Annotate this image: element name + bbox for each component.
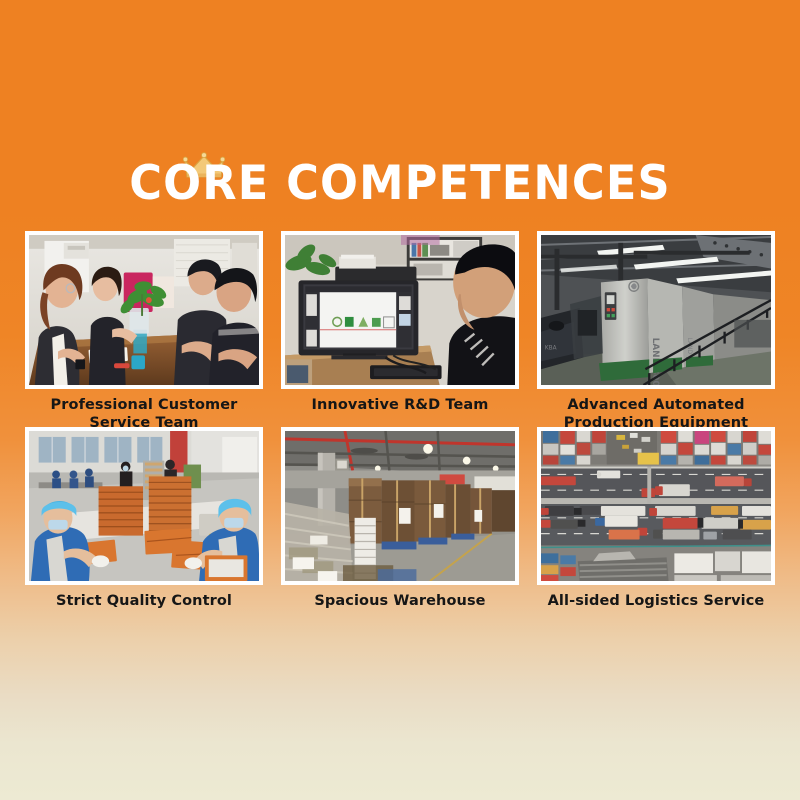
svg-text:KBA: KBA — [545, 345, 557, 351]
core-competences-banner: CORE COMPETENCES — [0, 0, 800, 800]
competences-grid: Professional Customer Service Team — [0, 231, 800, 623]
card-innovative-rd-team[interactable]: Innovative R&D Team — [281, 231, 519, 414]
card-all-sided-logistics-service[interactable]: All-sided Logistics Service — [537, 427, 775, 610]
customer-service-meeting-photo — [29, 235, 259, 385]
page-header: CORE COMPETENCES — [0, 152, 800, 216]
caption-line: Spacious Warehouse — [281, 592, 519, 610]
caption-line: All-sided Logistics Service — [537, 592, 775, 610]
photo-frame — [537, 427, 775, 585]
card-caption: All-sided Logistics Service — [537, 592, 775, 610]
card-caption: Innovative R&D Team — [281, 396, 519, 414]
caption-line: Advanced Automated — [537, 396, 775, 414]
card-spacious-warehouse[interactable]: Spacious Warehouse — [281, 427, 519, 610]
quality-control-inspection-photo — [29, 431, 259, 581]
card-caption: Strict Quality Control — [25, 592, 263, 610]
caption-line: Strict Quality Control — [25, 592, 263, 610]
card-professional-customer-service-team[interactable]: Professional Customer Service Team — [25, 231, 263, 432]
card-advanced-automated-production-equipment[interactable]: LAND 800 LAND 800 KBA — [537, 231, 775, 432]
photo-frame — [25, 231, 263, 389]
photo-frame — [25, 427, 263, 585]
caption-line: Professional Customer — [25, 396, 263, 414]
page-title: CORE COMPETENCES — [20, 152, 780, 216]
caption-line: Innovative R&D Team — [281, 396, 519, 414]
card-caption: Spacious Warehouse — [281, 592, 519, 610]
warehouse-storage-photo — [285, 431, 515, 581]
photo-frame — [281, 427, 519, 585]
card-strict-quality-control[interactable]: Strict Quality Control — [25, 427, 263, 610]
printing-press-line-photo: LAND 800 LAND 800 KBA — [541, 235, 771, 385]
logistics-aerial-photo — [541, 431, 771, 581]
competences-row: Professional Customer Service Team — [0, 231, 800, 427]
competences-row: Strict Quality Control — [0, 427, 800, 623]
photo-frame — [281, 231, 519, 389]
rd-designer-workstation-photo — [285, 235, 515, 385]
photo-frame: LAND 800 LAND 800 KBA — [537, 231, 775, 389]
